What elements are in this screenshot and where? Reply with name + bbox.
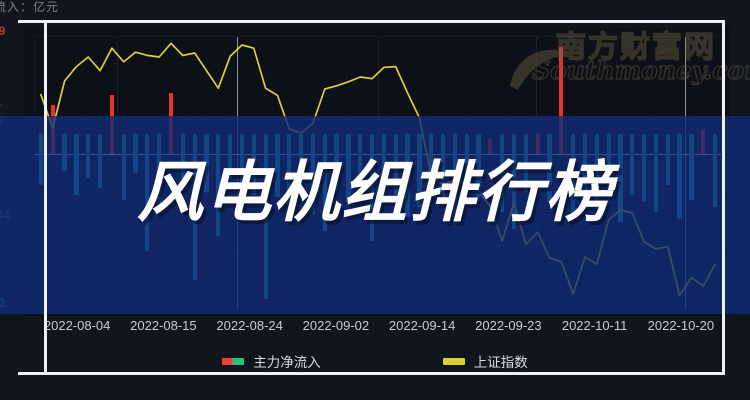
frame-corner-top-left [44,20,65,39]
x-axis-tick-label: 2022-09-23 [475,318,542,333]
y-axis-caption: 流入：亿元 [0,0,59,15]
frame-corner-top-right [704,20,725,39]
y-axis-label-top: 39 [0,24,5,38]
y-axis-label-644: 644 [0,208,10,222]
y-axis-label-25: 25 [0,114,3,128]
x-axis-tick-label: 2022-09-14 [389,318,456,333]
y-axis-label-zero: 0 [0,98,1,112]
legend-item-net-inflow[interactable]: 主力净流入 [222,351,321,371]
legend-label-net-inflow: 主力净流入 [253,351,321,371]
chart-plot-area[interactable] [24,28,730,316]
legend-item-index[interactable]: 上证指数 [443,351,528,371]
x-axis-tick-label: 2022-08-24 [216,318,283,333]
crosshair-vertical [237,37,238,309]
legend-swatch-index-icon [443,358,465,365]
x-axis-tick-label: 2022-10-11 [562,318,628,333]
chart-screenshot: 流入：亿元 39 0 25 644 62 风电机组排行榜 南方财富网 [0,0,750,400]
x-axis-labels: 2022-08-042022-08-152022-08-242022-09-02… [0,318,750,340]
frame-left-edge [44,20,47,375]
frame-corner-bottom-left [44,356,65,375]
legend-swatch-net-inflow-icon [222,358,244,365]
y-axis-label-62: 62 [0,296,5,310]
legend-label-index: 上证指数 [474,351,528,371]
crosshair-vertical [685,37,686,309]
x-axis-tick-label: 2022-08-15 [130,318,197,333]
gridline-vertical [117,37,118,309]
gridline-vertical [378,37,379,309]
frame-corner-bottom-right [704,356,725,375]
frame-right-edge [722,20,725,375]
chart-legend: 主力净流入 上证指数 [0,350,750,372]
frame-top-edge [18,20,722,23]
x-axis-tick-label: 2022-09-02 [303,318,370,333]
x-axis-tick-label: 2022-10-20 [648,318,715,333]
chart-plot-inner [34,36,722,310]
gridline-vertical [536,37,537,309]
x-axis-tick-label: 2022-08-04 [44,318,111,333]
frame-bottom-edge [18,372,722,375]
